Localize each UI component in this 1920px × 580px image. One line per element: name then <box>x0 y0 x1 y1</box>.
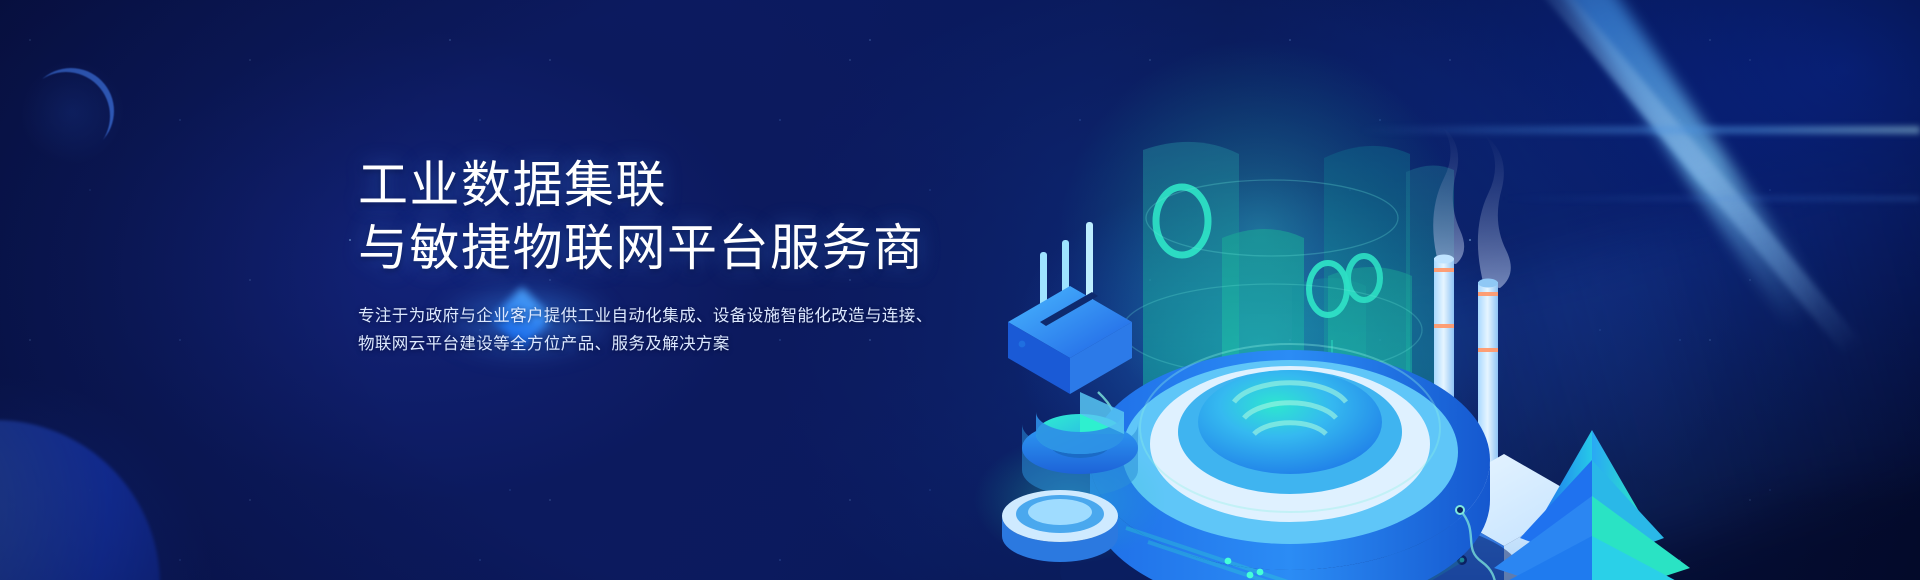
hero-banner: 工业数据集联 与敏捷物联网平台服务商 专注于为政府与企业客户提供工业自动化集成、… <box>0 0 1920 580</box>
cable-endpoint-node <box>1456 506 1464 514</box>
chimney-right-band-top <box>1478 292 1498 296</box>
glowing-planet <box>0 420 160 580</box>
chimney-left-band-mid <box>1434 324 1454 328</box>
page-subtitle: 专注于为政府与企业客户提供工业自动化集成、设备设施智能化改造与连接、 物联网云平… <box>358 302 918 359</box>
page-title-line-2: 与敏捷物联网平台服务商 <box>358 217 1078 280</box>
page-subtitle-line-1: 专注于为政府与企业客户提供工业自动化集成、设备设施智能化改造与连接、 <box>358 302 918 330</box>
glowing-planet-glow <box>0 360 230 580</box>
isometric-illustration <box>960 0 1920 580</box>
chimney-left-band-top <box>1434 268 1454 272</box>
page-title: 工业数据集联 与敏捷物联网平台服务商 <box>358 154 1078 280</box>
chimney-right-cap <box>1478 279 1498 288</box>
page-title-line-1: 工业数据集联 <box>358 157 667 213</box>
crescent-moon-icon <box>28 68 114 154</box>
hero-copy-block: 工业数据集联 与敏捷物联网平台服务商 专注于为政府与企业客户提供工业自动化集成、… <box>358 154 1078 359</box>
illustration-svg <box>960 0 1920 580</box>
chimney-left-cap <box>1434 255 1454 264</box>
crescent-moon-glow <box>18 58 126 166</box>
chimney-right-band-mid <box>1478 348 1498 352</box>
page-subtitle-line-2: 物联网云平台建设等全方位产品、服务及解决方案 <box>358 330 918 358</box>
smoke-plume-right <box>1478 134 1511 288</box>
sensor-pad-core <box>1028 499 1092 525</box>
sensor-pad <box>1002 490 1118 562</box>
